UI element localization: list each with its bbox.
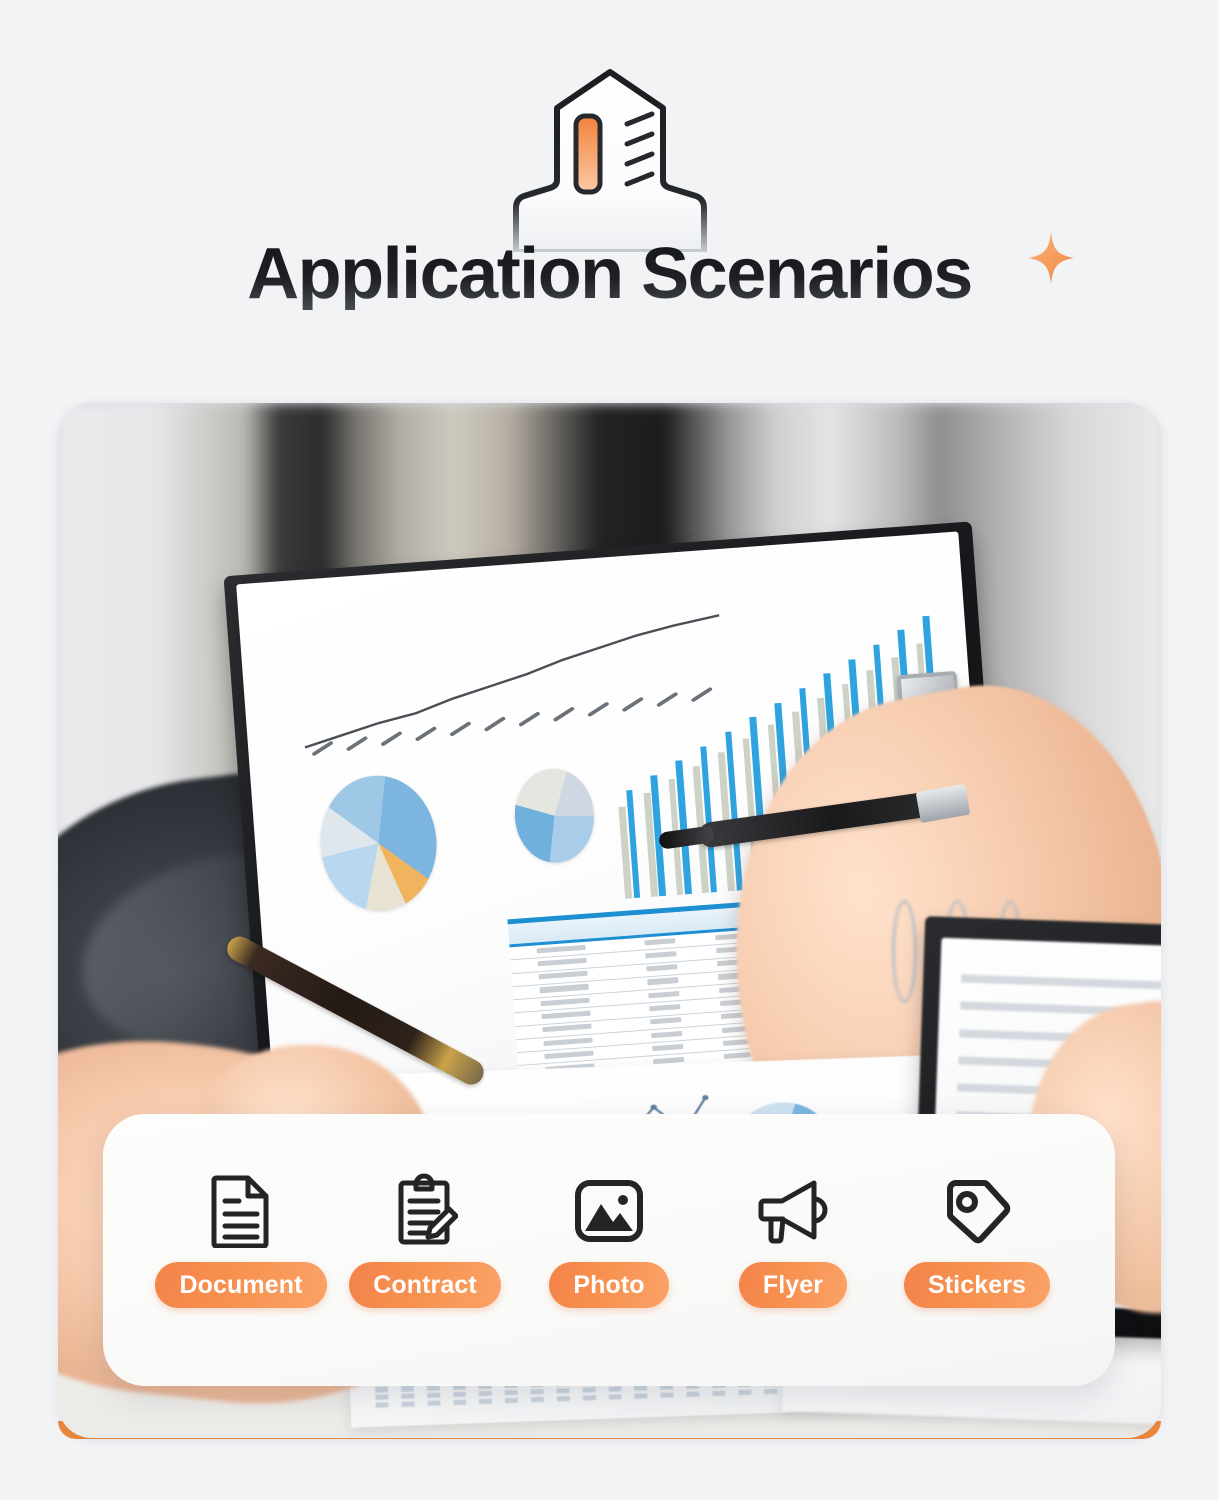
page-header: Application Scenarios [0,0,1219,395]
scenario-label-flyer[interactable]: Flyer [739,1262,847,1308]
report-pie-chart-1 [315,771,440,915]
scenario-label-photo[interactable]: Photo [549,1262,668,1308]
scenario-tile-document[interactable]: Document [151,1172,331,1308]
scenario-label-contract[interactable]: Contract [349,1262,501,1308]
scenario-label-document[interactable]: Document [155,1262,326,1308]
document-icon [210,1172,272,1250]
scenario-label-stickers[interactable]: Stickers [904,1262,1050,1308]
scenario-tiles: Document Contract [103,1114,1115,1386]
image-icon [574,1172,644,1250]
scenario-tile-contract[interactable]: Contract [335,1172,515,1308]
megaphone-icon [756,1172,830,1250]
scenarios-panel: Document Contract [103,1114,1115,1386]
scenario-tile-photo[interactable]: Photo [519,1172,699,1308]
sparkle-icon [1028,232,1074,284]
page-title-text: Application Scenarios [247,238,972,310]
tag-icon [942,1172,1012,1250]
building-tower-icon [500,62,720,252]
scenario-tile-stickers[interactable]: Stickers [887,1172,1067,1308]
scenario-tile-flyer[interactable]: Flyer [703,1172,883,1308]
report-pie-chart-2 [511,765,597,865]
clipboard-pen-icon [392,1172,458,1250]
